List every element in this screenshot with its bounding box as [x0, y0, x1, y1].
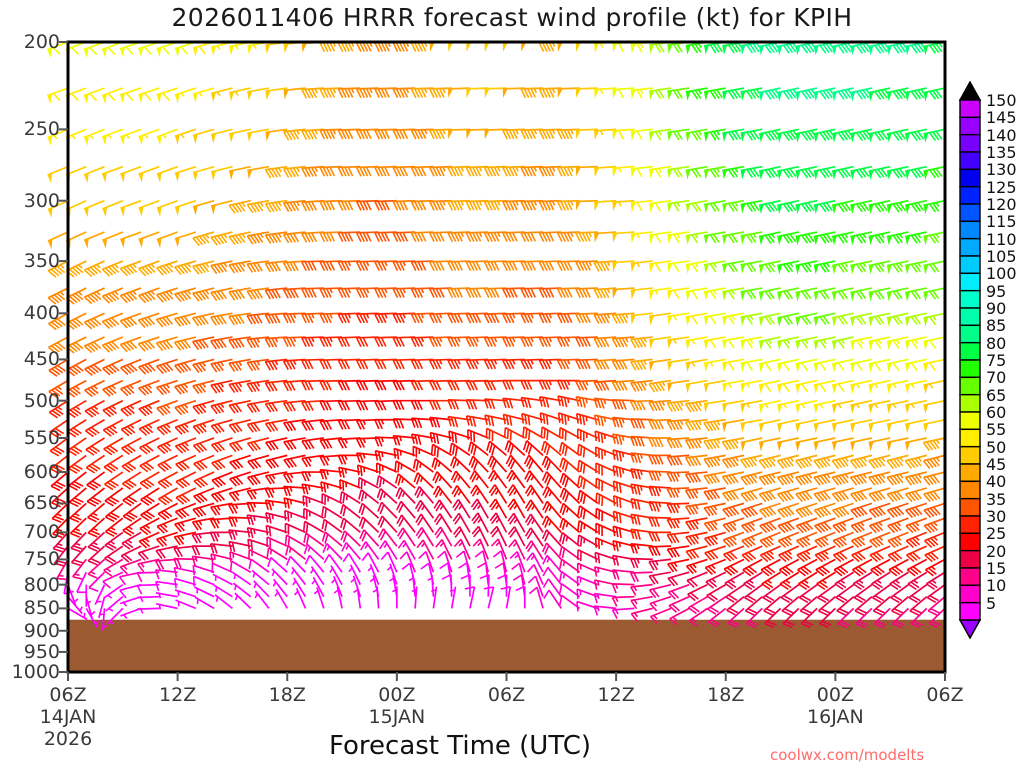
wind-barb — [741, 167, 763, 180]
wind-barb — [68, 438, 86, 455]
wind-barb — [667, 129, 689, 141]
wind-barb — [338, 455, 360, 464]
plot-canvas — [0, 0, 1024, 768]
wind-barb — [832, 401, 854, 414]
wind-barb — [139, 129, 160, 145]
wind-barb — [211, 544, 233, 554]
wind-barb — [304, 545, 323, 560]
wind-barb — [138, 313, 159, 327]
wind-barb — [905, 455, 926, 468]
wind-barb — [193, 129, 214, 144]
colorbar-tick-label: 125 — [986, 178, 1017, 197]
wind-barb — [377, 476, 397, 488]
wind-barb — [84, 167, 104, 184]
wind-barb — [686, 42, 708, 55]
wind-barb — [470, 471, 488, 488]
wind-barb — [759, 420, 781, 433]
wind-barb — [390, 575, 397, 597]
colorbar-tick-label: 120 — [986, 195, 1017, 214]
wind-barb — [814, 313, 836, 326]
colorbar-tick-label: 50 — [986, 438, 1006, 457]
wind-barb — [247, 420, 269, 433]
wind-barb — [392, 586, 397, 608]
wind-barb — [923, 438, 945, 451]
wind-barb — [312, 577, 324, 596]
wind-barb — [194, 587, 214, 597]
wind-barb — [354, 587, 361, 609]
wind-barb — [649, 88, 671, 100]
wind-barb — [814, 337, 836, 350]
wind-barb — [722, 381, 744, 394]
wind-barb — [340, 480, 360, 491]
wind-barb — [814, 88, 836, 101]
wind-barb — [158, 472, 177, 488]
wind-barb — [103, 359, 123, 375]
wind-barb — [85, 401, 104, 417]
y-tick-label: 900 — [0, 620, 60, 642]
wind-barb — [430, 433, 451, 444]
wind-barb — [814, 201, 836, 214]
wind-barb — [850, 381, 872, 394]
wind-barb — [453, 499, 470, 518]
wind-barb — [814, 232, 836, 245]
wind-barb — [314, 587, 323, 608]
wind-barb — [359, 478, 379, 489]
wind-barb — [686, 420, 708, 431]
wind-barb — [649, 572, 671, 584]
y-tick-label: 550 — [0, 427, 60, 449]
wind-barb — [543, 516, 562, 532]
wind-barb — [905, 381, 927, 394]
wind-barb — [832, 288, 854, 301]
x-tick-label: 00Z — [337, 684, 457, 706]
wind-barb — [631, 232, 653, 243]
colorbar-cell — [960, 516, 980, 533]
wind-barb — [649, 337, 671, 349]
wind-barb — [139, 420, 159, 436]
wind-barb — [814, 381, 836, 394]
wind-barb — [229, 488, 250, 501]
wind-barb — [687, 559, 708, 573]
wind-barb — [796, 261, 818, 274]
wind-barb — [121, 359, 141, 374]
wind-barb — [796, 232, 818, 245]
wind-barb — [850, 420, 872, 433]
wind-barb — [869, 261, 891, 274]
wind-barb — [834, 546, 854, 562]
wind-barb — [432, 458, 452, 472]
wind-barb — [796, 42, 818, 55]
wind-barb — [247, 515, 269, 525]
wind-barb — [704, 503, 726, 516]
wind-barb — [284, 486, 306, 495]
wind-barb — [541, 427, 561, 440]
wind-barb — [85, 420, 104, 437]
wind-barb — [266, 455, 287, 468]
wind-barb — [229, 517, 251, 526]
wind-barb — [686, 288, 708, 301]
wind-barb — [193, 167, 214, 182]
wind-barb — [667, 313, 689, 325]
wind-barb — [211, 420, 232, 434]
wind-barb — [667, 261, 689, 273]
wind-barb — [869, 288, 891, 301]
wind-barb — [650, 597, 671, 611]
wind-barb — [777, 401, 799, 414]
wind-barb — [176, 472, 196, 488]
wind-barb — [487, 441, 507, 455]
colorbar-tick-label: 140 — [986, 126, 1017, 145]
wind-barb — [560, 488, 579, 503]
wind-barb — [193, 288, 214, 301]
wind-barb — [888, 546, 908, 562]
colorbar-cell — [960, 308, 980, 325]
wind-barb — [103, 381, 123, 397]
wind-barb — [102, 261, 122, 276]
wind-barb — [631, 201, 653, 212]
wind-barb — [323, 532, 343, 546]
y-tick-label: 950 — [0, 641, 60, 663]
wind-barb — [704, 88, 726, 101]
wind-barb — [193, 337, 215, 350]
wind-barb — [631, 313, 653, 324]
wind-barb — [742, 546, 762, 562]
wind-barb — [395, 461, 415, 472]
wind-barb — [396, 488, 415, 504]
y-tick-label: 500 — [0, 390, 60, 412]
wind-barb — [724, 559, 744, 575]
wind-barb — [123, 488, 141, 505]
wind-barb — [814, 261, 836, 274]
wind-barb — [211, 42, 232, 56]
wind-barb — [925, 532, 945, 547]
wind-barb — [796, 472, 817, 485]
wind-barb — [722, 401, 744, 414]
wind-barb — [139, 232, 160, 248]
wind-barb — [84, 88, 105, 104]
wind-barb — [249, 550, 269, 560]
wind-barb — [704, 359, 726, 372]
wind-barb — [360, 530, 379, 546]
wind-barb — [741, 129, 763, 142]
wind-barb — [339, 467, 361, 477]
wind-barb — [722, 438, 744, 450]
wind-barb — [850, 167, 872, 180]
wind-barb — [741, 359, 763, 372]
wind-barb — [175, 313, 196, 326]
wind-barb — [759, 88, 781, 101]
wind-barb — [815, 532, 835, 547]
wind-barb — [175, 232, 196, 247]
wind-barb — [869, 359, 891, 372]
wind-profile-chart: 2026011406 HRRR forecast wind profile (k… — [0, 0, 1024, 768]
wind-barb — [923, 288, 945, 301]
colorbar-tick-label: 75 — [986, 351, 1006, 370]
wind-barb — [923, 359, 945, 372]
x-tick-label: 12Z — [118, 684, 238, 706]
wind-barb — [686, 88, 708, 101]
wind-barb — [387, 564, 396, 585]
wind-barb — [501, 587, 511, 609]
wind-barb — [86, 455, 104, 472]
wind-barb — [759, 438, 781, 451]
wind-barb — [452, 486, 470, 504]
wind-barb — [47, 88, 68, 104]
wind-barb — [84, 201, 104, 218]
wind-barb — [67, 359, 86, 375]
wind-barb — [542, 456, 561, 472]
wind-barb — [686, 232, 708, 245]
wind-barb — [321, 482, 342, 493]
wind-barb — [469, 442, 489, 456]
wind-barb — [137, 572, 159, 582]
wind-barb — [229, 167, 251, 180]
colorbar-tick-label: 30 — [986, 507, 1006, 526]
wind-barb — [247, 503, 269, 512]
wind-barb — [704, 401, 726, 413]
wind-barb — [777, 88, 799, 101]
wind-barb — [850, 232, 872, 245]
wind-barb — [686, 532, 708, 545]
wind-barb — [266, 526, 287, 537]
wind-barb — [543, 487, 561, 504]
wind-barb — [923, 401, 945, 414]
colorbar-tick-label: 95 — [986, 282, 1006, 301]
wind-barb — [368, 564, 378, 584]
wind-barb — [229, 381, 251, 393]
wind-barb — [157, 232, 178, 248]
wind-barb — [631, 585, 653, 596]
wind-barb — [722, 261, 744, 274]
wind-barb — [796, 503, 817, 517]
wind-barb — [67, 381, 86, 397]
wind-barb — [923, 42, 945, 55]
wind-barb — [140, 472, 159, 489]
wind-barb — [704, 455, 726, 467]
wind-barb — [229, 232, 251, 245]
wind-barb — [525, 455, 543, 472]
wind-barb — [85, 381, 105, 397]
wind-barb — [415, 487, 433, 504]
wind-barb — [906, 532, 926, 547]
wind-barb — [832, 42, 854, 55]
wind-barb — [741, 288, 763, 301]
wind-barb — [334, 587, 342, 609]
wind-barb — [84, 337, 104, 353]
wind-barb — [193, 420, 214, 434]
wind-barb — [887, 88, 909, 101]
wind-barb — [123, 503, 141, 521]
wind-barb — [122, 472, 141, 489]
wind-barb — [286, 546, 306, 560]
wind-barb — [508, 485, 525, 504]
wind-barb — [524, 441, 543, 456]
wind-barb — [193, 201, 214, 216]
y-tick-label: 200 — [0, 31, 60, 53]
wind-barb — [852, 532, 872, 547]
wind-barb — [850, 42, 872, 55]
wind-barb — [230, 438, 251, 452]
wind-barb — [302, 484, 324, 494]
wind-barb — [137, 597, 159, 602]
wind-barb — [796, 313, 818, 326]
wind-barb — [869, 381, 891, 394]
wind-barb — [229, 201, 251, 214]
wind-barb — [267, 537, 287, 548]
colorbar-cell — [960, 325, 980, 342]
wind-barb — [193, 381, 214, 394]
x-tick-label: 18Z — [666, 684, 786, 706]
wind-barb — [907, 546, 927, 562]
wind-barb — [649, 532, 671, 541]
wind-barb — [759, 261, 781, 274]
wind-barb — [924, 472, 945, 485]
wind-barb — [175, 590, 196, 597]
wind-barb — [686, 438, 708, 449]
wind-barb — [158, 503, 177, 519]
wind-barb — [832, 381, 854, 394]
wind-barb — [796, 129, 818, 142]
wind-barb — [796, 455, 817, 468]
wind-barb — [428, 575, 434, 597]
wind-barb — [797, 546, 817, 562]
wind-barb — [156, 313, 177, 327]
colorbar-cell — [960, 256, 980, 273]
wind-barb — [906, 503, 927, 517]
wind-barb — [84, 129, 104, 146]
wind-barb — [686, 261, 708, 274]
wind-barb — [923, 129, 945, 142]
wind-barb — [667, 401, 689, 412]
wind-barb — [413, 446, 433, 457]
wind-barb — [649, 129, 671, 141]
colorbar-tick-label: 100 — [986, 264, 1017, 283]
wind-barb — [158, 455, 178, 471]
wind-barb — [650, 585, 671, 598]
wind-barb — [229, 261, 251, 273]
wind-barb — [341, 505, 361, 519]
wind-barb — [704, 420, 726, 431]
wind-barb — [759, 42, 781, 55]
wind-barb — [68, 597, 82, 614]
wind-barb — [193, 232, 214, 246]
colorbar-cell — [960, 395, 980, 412]
wind-barb — [141, 503, 160, 520]
wind-barb — [631, 129, 653, 140]
wind-barb — [887, 129, 909, 142]
wind-barb — [211, 554, 232, 564]
wind-barb — [68, 608, 87, 619]
wind-barb — [157, 518, 177, 533]
wind-barb — [265, 500, 287, 510]
wind-barb — [247, 129, 269, 142]
wind-barb — [120, 88, 141, 103]
wind-barb — [138, 88, 159, 103]
wind-barb — [175, 167, 196, 182]
wind-barb — [850, 288, 872, 301]
wind-barb — [888, 503, 909, 517]
wind-barb — [742, 532, 762, 547]
wind-barb — [869, 167, 891, 180]
wind-barb — [103, 420, 122, 436]
colorbar-cell — [960, 481, 980, 498]
y-tick-label: 300 — [0, 190, 60, 212]
wind-barb — [612, 608, 634, 618]
wind-barb — [686, 455, 708, 466]
wind-barb — [686, 337, 708, 350]
wind-barb — [869, 420, 891, 433]
wind-barb — [704, 288, 726, 301]
wind-barb — [905, 313, 927, 326]
colorbar-cell — [960, 169, 980, 186]
wind-barb — [814, 288, 836, 301]
wind-barb — [778, 518, 799, 533]
wind-barb — [543, 543, 562, 559]
wind-barb — [869, 201, 891, 214]
wind-barb — [667, 337, 689, 349]
wind-barb — [832, 455, 853, 468]
wind-barb — [760, 532, 780, 547]
wind-barb — [832, 201, 854, 214]
wind-barb — [759, 359, 781, 372]
wind-barb — [704, 201, 726, 214]
wind-barb — [850, 88, 872, 101]
wind-barb — [431, 587, 436, 609]
wind-barb — [211, 167, 232, 181]
wind-barb — [266, 438, 288, 451]
wind-barb — [560, 428, 580, 441]
wind-barb — [560, 473, 579, 488]
colorbar-cell — [960, 239, 980, 256]
colorbar-cell — [960, 273, 980, 290]
wind-barb — [102, 288, 122, 303]
colorbar-tick-label: 20 — [986, 542, 1006, 561]
wind-barb — [156, 337, 177, 351]
wind-barb — [486, 428, 506, 441]
wind-barb — [850, 359, 872, 372]
wind-barb — [832, 88, 854, 101]
wind-barb — [193, 261, 214, 274]
wind-barb — [887, 359, 909, 372]
wind-barb — [416, 500, 434, 518]
wind-barb — [102, 88, 123, 104]
colorbar-cell — [960, 568, 980, 585]
wind-barb — [156, 582, 178, 591]
wind-barb — [332, 576, 342, 596]
wind-barb — [139, 167, 160, 183]
wind-barb — [759, 337, 781, 350]
wind-barb — [211, 232, 232, 245]
wind-barb — [120, 42, 141, 57]
wind-barb — [175, 438, 195, 453]
y-tick-label: 750 — [0, 548, 60, 570]
colorbar-cell — [960, 551, 980, 568]
wind-barb — [505, 441, 524, 456]
wind-barb — [631, 381, 653, 392]
wind-barb — [667, 201, 689, 213]
wind-barb — [84, 288, 104, 304]
wind-barb — [667, 381, 689, 393]
wind-barb — [378, 516, 397, 532]
wind-barb — [249, 559, 269, 572]
wind-barb — [373, 586, 379, 608]
colorbar-cell — [960, 117, 980, 134]
wind-barb — [631, 167, 653, 178]
wind-barb — [489, 470, 507, 488]
wind-barb — [796, 381, 818, 394]
wind-barb — [705, 546, 726, 560]
colorbar-cell — [960, 187, 980, 204]
